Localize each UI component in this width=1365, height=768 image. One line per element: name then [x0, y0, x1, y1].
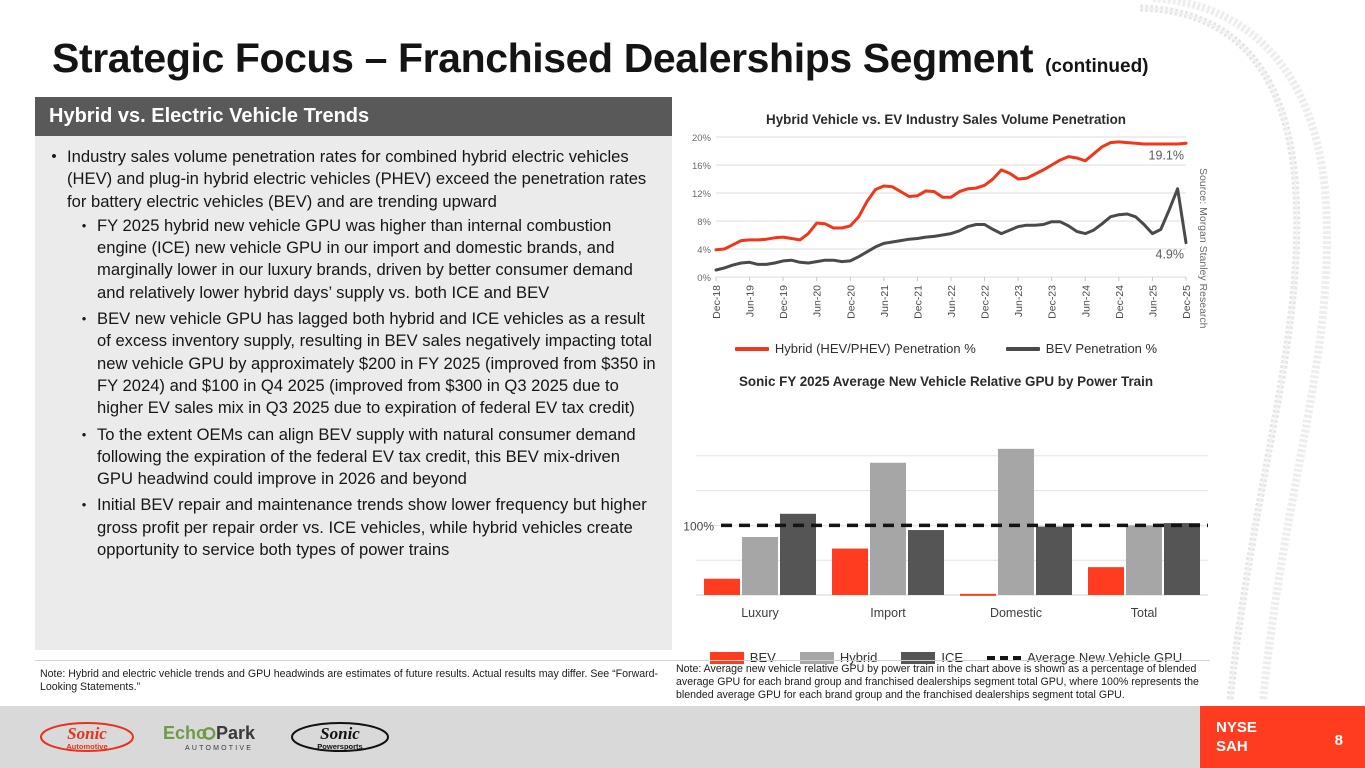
- page-number: 8: [1335, 732, 1343, 749]
- bullet-dot-icon: •: [71, 215, 97, 237]
- list-item: • Industry sales volume penetration rate…: [41, 146, 658, 213]
- bullet-dot-icon: •: [41, 146, 67, 168]
- svg-text:Jun-22: Jun-22: [946, 285, 958, 317]
- sonic-powersports-logo: Sonic Powersports: [290, 720, 390, 754]
- list-item: • FY 2025 hybrid new vehicle GPU was hig…: [71, 215, 658, 304]
- svg-text:8%: 8%: [697, 217, 711, 228]
- svg-text:Echo: Echo: [163, 723, 207, 743]
- legend-label: BEV Penetration %: [1046, 341, 1157, 356]
- legend-item-hybrid: Hybrid (HEV/PHEV) Penetration %: [735, 341, 976, 356]
- chart-source-label: Source: Morgan Stanley Research: [1197, 168, 1209, 329]
- svg-text:Import: Import: [870, 606, 906, 620]
- bullet-dot-icon: •: [71, 308, 97, 330]
- footer-logos: Sonic Automotive Echo Park AUTOMOTIVE So…: [40, 720, 390, 754]
- hybrid-swatch-icon: [800, 652, 834, 664]
- svg-text:16%: 16%: [692, 161, 712, 172]
- ticker-exchange: NYSE: [1216, 718, 1257, 737]
- svg-text:4.9%: 4.9%: [1156, 248, 1185, 262]
- line-chart: 0%4%8%12%16%20%Dec-18Jun-19Dec-19Jun-20D…: [676, 129, 1216, 339]
- bar-chart-title: Sonic FY 2025 Average New Vehicle Relati…: [676, 374, 1216, 389]
- bar-chart: LuxuryImportDomesticTotal100%: [676, 403, 1216, 648]
- content-panel: Hybrid vs. Electric Vehicle Trends • Ind…: [35, 97, 672, 650]
- right-footnote: Note: Average new vehicle relative GPU b…: [676, 663, 1206, 703]
- average-gpu-dashed-swatch-icon: [987, 656, 1021, 660]
- svg-text:4%: 4%: [697, 245, 711, 256]
- svg-text:20%: 20%: [692, 133, 712, 144]
- svg-text:Dec-23: Dec-23: [1047, 285, 1059, 319]
- bullet-text: FY 2025 hybrid new vehicle GPU was highe…: [97, 215, 658, 304]
- line-chart-title: Hybrid Vehicle vs. EV Industry Sales Vol…: [676, 112, 1216, 127]
- sonic-automotive-logo: Sonic Automotive: [40, 720, 135, 754]
- status-badge: NYSE SAH 8: [1200, 706, 1365, 768]
- bullet-text: Industry sales volume penetration rates …: [67, 146, 658, 213]
- bullet-dot-icon: •: [71, 424, 97, 446]
- footnote-divider: [35, 660, 1210, 661]
- bullet-text: To the extent OEMs can align BEV supply …: [97, 424, 658, 491]
- ice-swatch-icon: [901, 652, 935, 664]
- list-item: • BEV new vehicle GPU has lagged both hy…: [71, 308, 658, 419]
- svg-text:Dec-25: Dec-25: [1181, 285, 1193, 319]
- svg-text:Dec-24: Dec-24: [1114, 285, 1126, 319]
- svg-text:Jun-20: Jun-20: [812, 285, 824, 317]
- slide-root: Strategic Focus – Franchised Dealerships…: [0, 0, 1365, 768]
- svg-text:Dec-22: Dec-22: [980, 285, 992, 319]
- hybrid-line-swatch-icon: [735, 347, 769, 351]
- svg-text:Jun-23: Jun-23: [1013, 285, 1025, 317]
- svg-text:Jun-21: Jun-21: [879, 285, 891, 317]
- echopark-logo: Echo Park AUTOMOTIVE: [161, 720, 264, 754]
- svg-text:Dec-19: Dec-19: [778, 285, 790, 319]
- page-title-continued: (continued): [1045, 56, 1148, 78]
- svg-text:Sonic: Sonic: [67, 724, 107, 743]
- left-footnote: Note: Hybrid and electric vehicle trends…: [40, 668, 660, 695]
- list-item: • To the extent OEMs can align BEV suppl…: [71, 424, 658, 491]
- svg-text:Automotive: Automotive: [66, 742, 107, 751]
- svg-text:Park: Park: [216, 723, 256, 743]
- svg-text:Jun-24: Jun-24: [1080, 285, 1092, 317]
- bullet-text: Initial BEV repair and maintenance trend…: [97, 494, 658, 561]
- bullet-text: BEV new vehicle GPU has lagged both hybr…: [97, 308, 658, 419]
- page-title: Strategic Focus – Franchised Dealerships…: [52, 38, 1149, 79]
- svg-text:12%: 12%: [692, 189, 712, 200]
- svg-text:Dec-21: Dec-21: [912, 285, 924, 319]
- svg-text:Jun-25: Jun-25: [1147, 285, 1159, 317]
- bullet-list: • Industry sales volume penetration rate…: [35, 136, 672, 561]
- ticker-symbol: SAH: [1216, 737, 1257, 756]
- bev-swatch-icon: [710, 652, 744, 664]
- page-title-main: Strategic Focus – Franchised Dealerships…: [52, 38, 1033, 79]
- svg-text:AUTOMOTIVE: AUTOMOTIVE: [185, 745, 253, 752]
- list-item: • Initial BEV repair and maintenance tre…: [71, 494, 658, 561]
- svg-text:Sonic: Sonic: [320, 724, 360, 743]
- svg-text:Jun-19: Jun-19: [745, 285, 757, 317]
- charts-column: Hybrid Vehicle vs. EV Industry Sales Vol…: [676, 112, 1216, 665]
- legend-label: Hybrid (HEV/PHEV) Penetration %: [775, 341, 976, 356]
- svg-text:Powersports: Powersports: [317, 742, 362, 751]
- svg-text:19.1%: 19.1%: [1149, 148, 1184, 162]
- ticker-label: NYSE SAH: [1216, 718, 1257, 756]
- bullet-dot-icon: •: [71, 494, 97, 516]
- svg-text:Luxury: Luxury: [741, 606, 779, 620]
- panel-header: Hybrid vs. Electric Vehicle Trends: [35, 97, 672, 136]
- footer-bar: Sonic Automotive Echo Park AUTOMOTIVE So…: [0, 706, 1365, 768]
- legend-item-bev: BEV Penetration %: [1006, 341, 1157, 356]
- line-chart-legend: Hybrid (HEV/PHEV) Penetration % BEV Pene…: [676, 341, 1216, 356]
- svg-text:Total: Total: [1131, 606, 1157, 620]
- svg-text:0%: 0%: [697, 273, 711, 284]
- bev-line-swatch-icon: [1006, 347, 1040, 351]
- svg-text:Dec-18: Dec-18: [711, 285, 723, 319]
- svg-text:Dec-20: Dec-20: [845, 285, 857, 319]
- svg-text:100%: 100%: [683, 519, 714, 533]
- svg-text:Domestic: Domestic: [990, 606, 1042, 620]
